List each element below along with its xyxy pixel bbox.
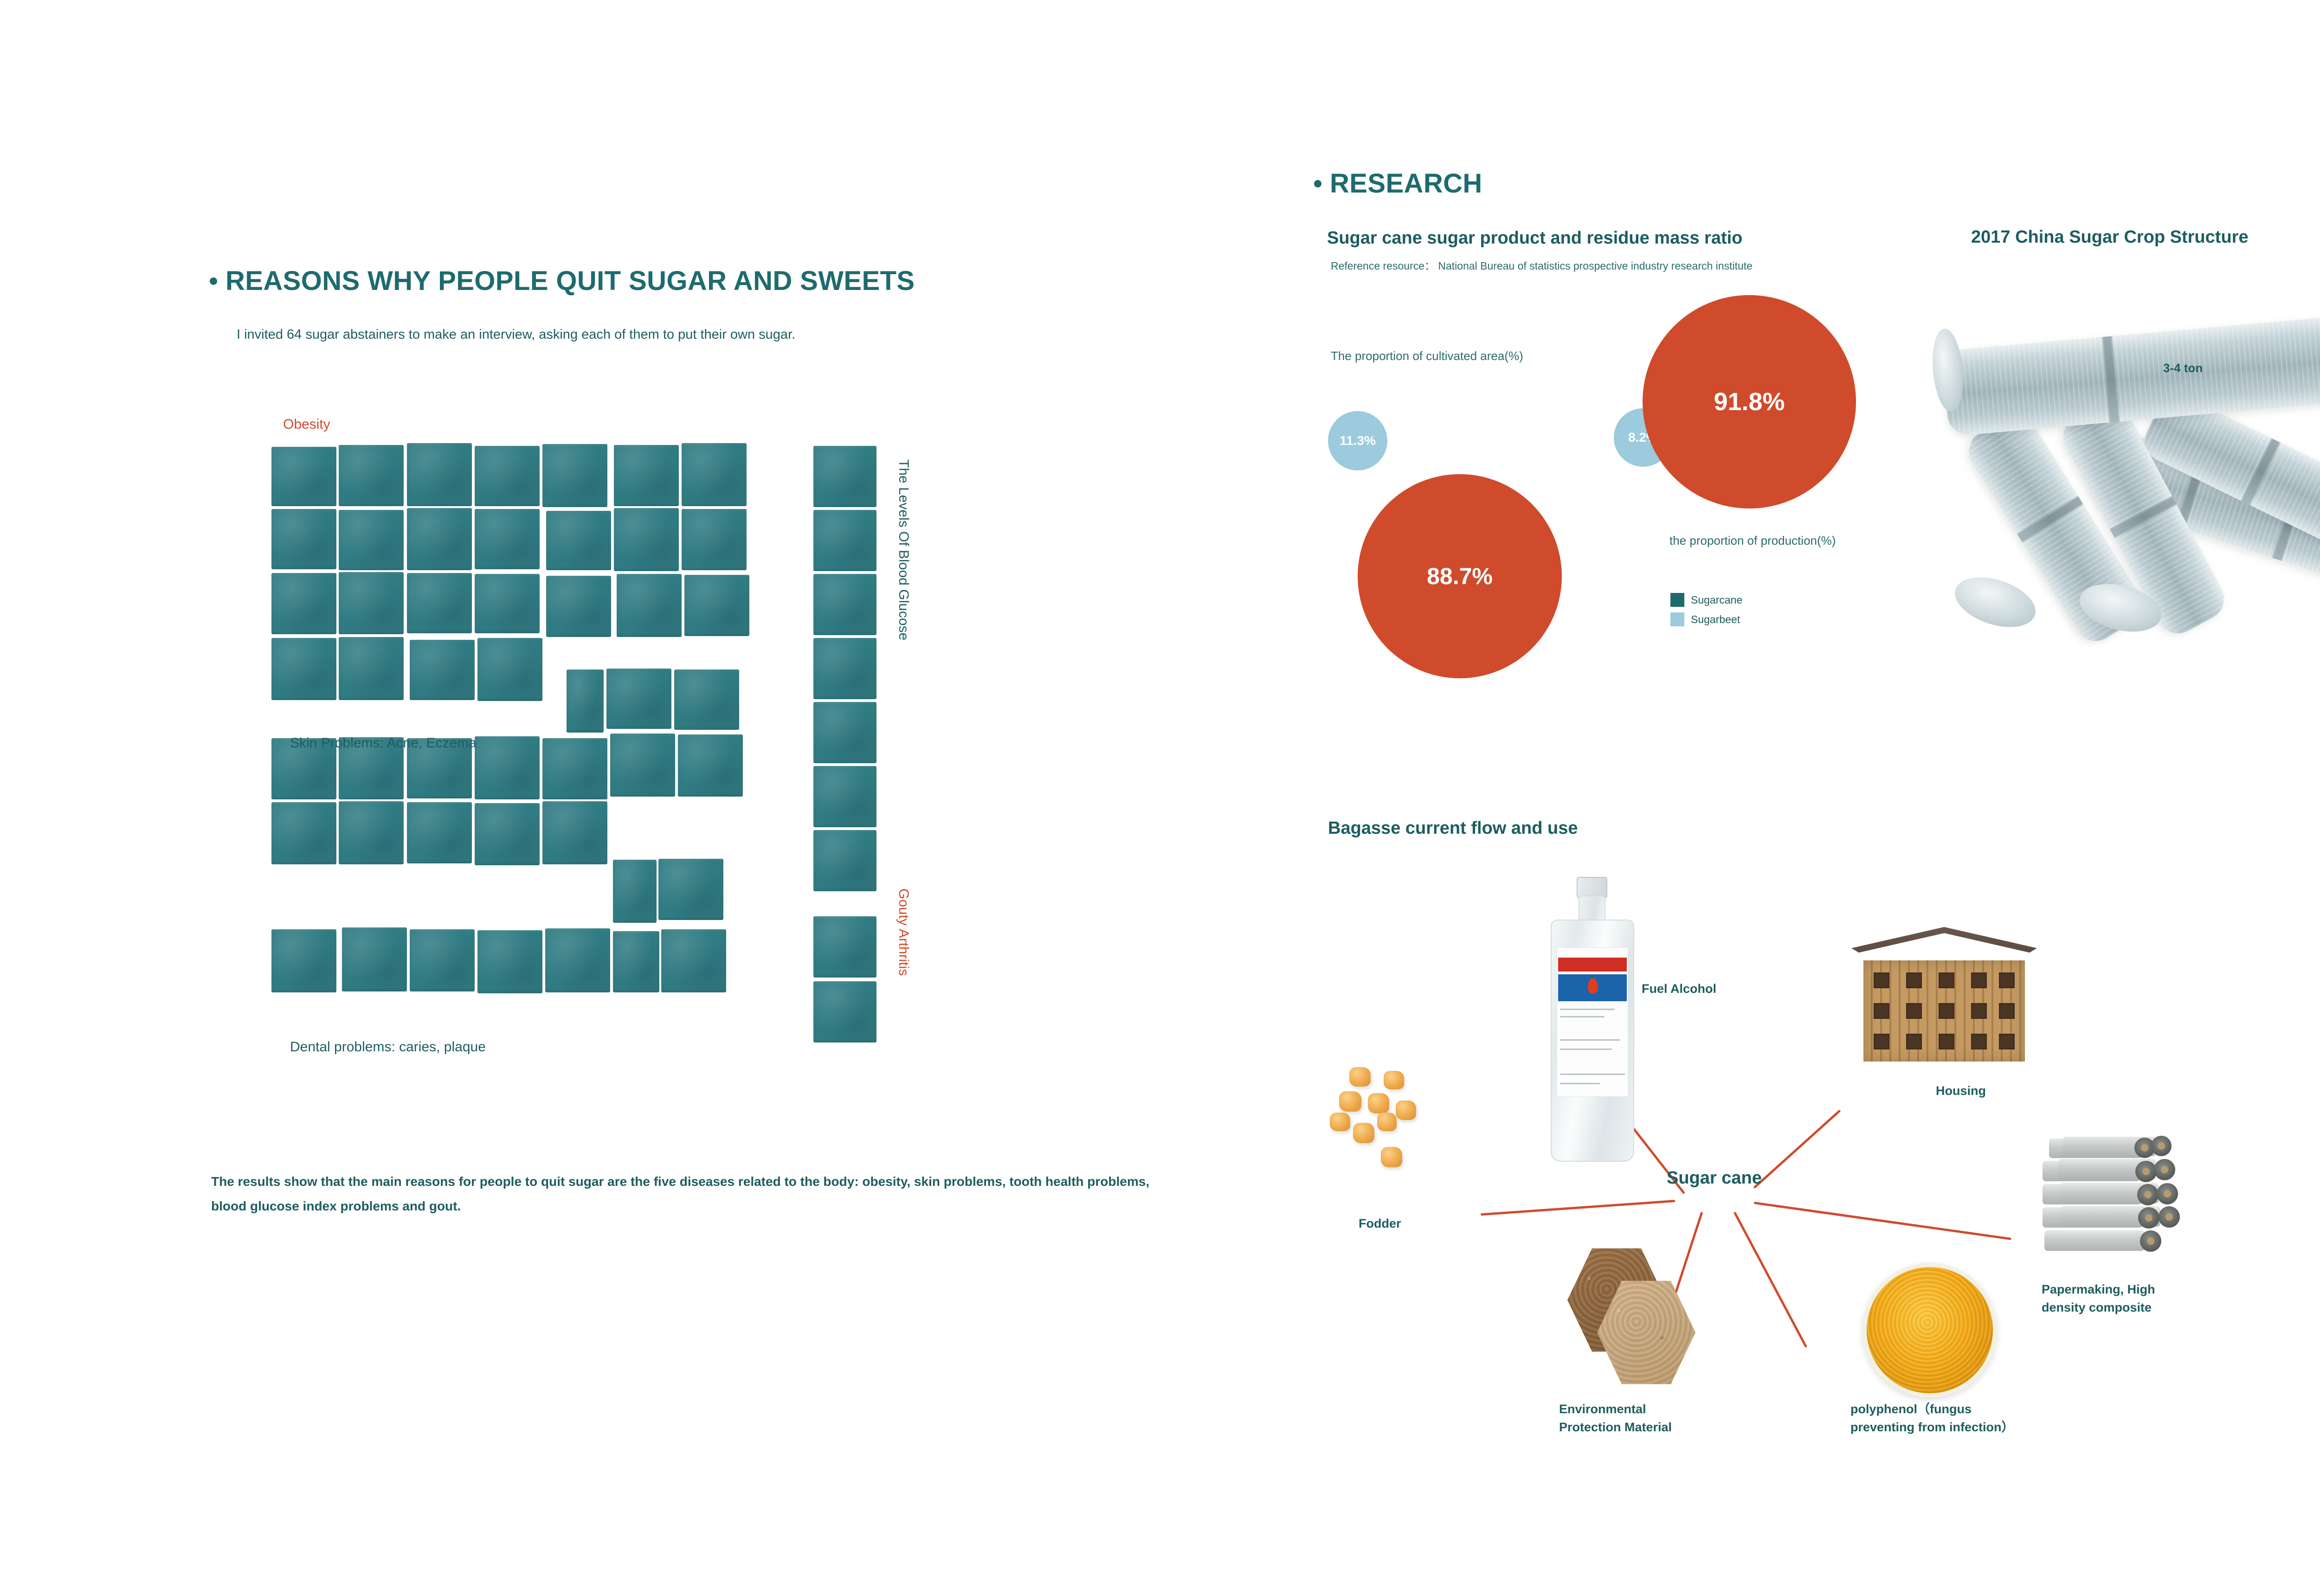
sugar-cube [475, 736, 540, 799]
cane-cut-end [1949, 568, 2042, 637]
cane-node [2017, 497, 2082, 541]
sugar-cube [682, 509, 747, 570]
sugar-cube [684, 575, 749, 636]
sugar-cube [410, 640, 475, 700]
bottle-label-line [1560, 1074, 1625, 1075]
flame-icon [1588, 978, 1598, 994]
fodder-pellet [1381, 1147, 1402, 1167]
legend-label-sugarcane: Sugarcane [1691, 594, 1742, 606]
sugar-cube [813, 916, 876, 978]
bagasse-heading: Bagasse current flow and use [1328, 818, 1578, 838]
sugar-cube [339, 445, 404, 506]
legend-item-sugarcane: Sugarcane [1670, 593, 1742, 607]
label-production: the proportion of production(%) [1669, 533, 1855, 549]
flow-center-label: Sugar cane [1667, 1168, 1762, 1188]
sugar-cube-pictogram [271, 443, 949, 1060]
research-title-group: RESEARCH [1314, 168, 1482, 199]
cane-node [2103, 336, 2118, 423]
label-obesity: Obesity [283, 417, 330, 432]
fodder-pellet [1353, 1123, 1374, 1143]
left-panel-intro: I invited 64 sugar abstainers to make an… [237, 325, 1118, 344]
paper-roll-end [2154, 1159, 2175, 1180]
house-window [1874, 1003, 1889, 1019]
fodder-pellet [1368, 1093, 1389, 1113]
house-window [1939, 1003, 1954, 1019]
page-title: REASONS WHY PEOPLE QUIT SUGAR AND SWEETS [226, 265, 915, 296]
bottle-label-line [1560, 1049, 1612, 1050]
legend-item-sugarbeet: Sugarbeet [1670, 612, 1742, 626]
legend-label-sugarbeet: Sugarbeet [1691, 613, 1740, 626]
sugar-cube [813, 446, 876, 507]
sugar-cube [542, 444, 607, 507]
sugar-cube [542, 801, 607, 864]
sugar-cube [271, 802, 336, 864]
house-window [1971, 1034, 1987, 1049]
research-title-row: RESEARCH [1314, 168, 1482, 199]
house-body [1863, 960, 2025, 1062]
sugar-cube [614, 508, 679, 571]
legend-swatch-sugarbeet [1670, 612, 1684, 626]
tag-cane-weight: 3-4 ton [2163, 361, 2203, 375]
sugar-cube [678, 734, 743, 797]
bagasse-flow-diagram: Sugar cane Fuel Alcohol [1308, 872, 2236, 1452]
flow-edge-polyphenol [1734, 1211, 1807, 1348]
sugar-cube [813, 981, 876, 1043]
flow-label-housing: Housing [1936, 1082, 1986, 1100]
flow-edge-housing [1753, 1109, 1841, 1189]
sugar-cube [613, 931, 659, 992]
bottle-label-line [1560, 1039, 1620, 1041]
research-title: RESEARCH [1330, 168, 1482, 199]
sugar-cube [813, 638, 876, 699]
fodder-pellet [1330, 1113, 1350, 1131]
house-window [1999, 1003, 2015, 1019]
sugar-cube [477, 930, 542, 993]
sugar-cube [407, 802, 472, 863]
flow-label-fodder: Fodder [1359, 1215, 1401, 1233]
cane-node [2110, 497, 2176, 536]
sugar-cube [475, 446, 540, 506]
flow-label-polyphenol: polyphenol（fungus preventing from infect… [1850, 1400, 2017, 1436]
paper-roll-end [2159, 1206, 2180, 1228]
polyphenol-dish-image [1862, 1263, 1997, 1397]
fodder-image [1333, 1062, 1472, 1192]
paper-roll-end [2138, 1207, 2159, 1229]
bubble-production-sugarcane: 91.8% [1643, 295, 1856, 508]
bottle-label-line [1560, 1016, 1605, 1017]
housing-image [1851, 927, 2037, 1075]
mass-ratio-legend: Sugarcane Sugarbeet [1670, 593, 1742, 632]
legend-swatch-sugarcane [1670, 593, 1684, 607]
sugar-cane-photo: 3-4 ton 1 ton [1940, 292, 2320, 682]
house-window [1999, 972, 2015, 988]
papermaking-image [2043, 1135, 2196, 1269]
label-gouty-arthritis: Gouty Arthritis [896, 888, 911, 976]
sugar-cube [613, 860, 657, 923]
sugar-cube [658, 859, 723, 920]
fodder-pellet [1384, 1071, 1404, 1089]
sugar-cube [813, 574, 876, 635]
sugar-cube [546, 576, 611, 637]
sugar-cube [339, 572, 404, 634]
flow-label-papermaking: Papermaking, High density composite [2042, 1281, 2181, 1317]
bottle-label-line [1560, 1083, 1600, 1084]
mass-ratio-reference: Reference resource： National Bureau of s… [1331, 259, 1878, 273]
sugar-cube [617, 574, 682, 637]
bubble-area-sugarcane: 88.7% [1358, 474, 1562, 678]
sugar-cube [614, 445, 679, 506]
sugar-cube [410, 929, 475, 991]
house-window [1874, 1034, 1889, 1049]
sugar-cube [477, 638, 542, 701]
paper-roll [2044, 1230, 2145, 1251]
bottle-body [1551, 920, 1634, 1162]
sugar-cube [407, 443, 472, 506]
sugar-cube [542, 738, 607, 799]
paper-roll-end [2137, 1184, 2159, 1205]
sugar-cube [475, 803, 540, 865]
sugar-cube [813, 766, 876, 827]
sugar-cube [813, 830, 876, 891]
sugar-cube [813, 510, 876, 571]
label-dental-problems: Dental problems: caries, plaque [290, 1039, 486, 1055]
bottle-neck [1579, 895, 1605, 922]
sugar-cube [342, 927, 407, 991]
sugar-cube [546, 511, 611, 570]
sugar-cube [606, 669, 671, 729]
sugar-cube [682, 443, 747, 506]
sugar-cube [567, 669, 604, 733]
house-window [1939, 972, 1954, 988]
paper-roll-end [2151, 1136, 2172, 1156]
sugar-cube [610, 734, 675, 797]
house-window [1874, 972, 1889, 988]
label-blood-glucose: The Levels Of Blood Glucose [896, 459, 911, 640]
sugar-cube [545, 928, 610, 992]
sugar-cube [475, 574, 540, 633]
sugar-cube [339, 637, 404, 700]
paper-roll-end [2157, 1183, 2178, 1204]
house-window [1971, 1003, 1987, 1019]
sugar-cube [271, 573, 336, 634]
label-skin-problems: Skin Problems: Acne, Eczema [290, 735, 477, 751]
house-window [1906, 972, 1922, 988]
flow-label-environmental: Environmental Protection Material [1559, 1400, 1698, 1436]
flow-label-fuel-alcohol: Fuel Alcohol [1642, 980, 1716, 998]
cane-node [2242, 439, 2279, 505]
sugar-cube [271, 929, 336, 992]
house-window [1939, 1034, 1954, 1049]
sugar-cube [407, 508, 472, 570]
bullet-icon [210, 277, 217, 285]
house-window [1906, 1034, 1922, 1049]
sugar-cube [813, 702, 876, 763]
sugar-cube [674, 669, 739, 730]
sugar-cube [339, 510, 404, 570]
fuel-alcohol-image [1546, 877, 1639, 1161]
flow-edge-fodder [1481, 1200, 1675, 1216]
left-panel-title-group: REASONS WHY PEOPLE QUIT SUGAR AND SWEETS [210, 265, 915, 296]
sugar-cube [407, 573, 472, 633]
house-window [1971, 972, 1987, 988]
flow-edge-papermaking [1754, 1202, 2011, 1240]
fodder-pellet [1339, 1091, 1361, 1112]
bubble-area-sugarbeet: 11.3% [1328, 411, 1387, 470]
bullet-icon [1314, 180, 1321, 187]
sugar-cube [271, 509, 336, 569]
crop-structure-heading: 2017 China Sugar Crop Structure [1971, 227, 2249, 247]
fodder-pellet [1377, 1113, 1397, 1131]
left-panel-title-row: REASONS WHY PEOPLE QUIT SUGAR AND SWEETS [210, 265, 915, 296]
mass-ratio-heading: Sugar cane sugar product and residue mas… [1327, 228, 1742, 248]
sugar-cube [475, 509, 540, 569]
house-window [1906, 1003, 1922, 1019]
sugar-cube [339, 801, 404, 864]
sugar-cube [661, 929, 726, 992]
environmental-material-image [1559, 1243, 1712, 1396]
fodder-pellet [1396, 1100, 1416, 1120]
bottle-label-line [1560, 1009, 1615, 1010]
paper-roll-end [2135, 1161, 2157, 1182]
label-cultivated-area: The proportion of cultivated area(%) [1331, 348, 1526, 364]
cane-stalk-main [1941, 299, 2320, 437]
fodder-pellet [1349, 1067, 1371, 1087]
sugar-cube [271, 447, 336, 506]
paper-roll-end [2140, 1230, 2161, 1252]
sugar-cube [271, 638, 336, 700]
bottle-label-red-band [1558, 958, 1627, 972]
left-panel-conclusion: The results show that the main reasons f… [211, 1169, 1153, 1218]
house-window [1999, 1034, 2015, 1049]
